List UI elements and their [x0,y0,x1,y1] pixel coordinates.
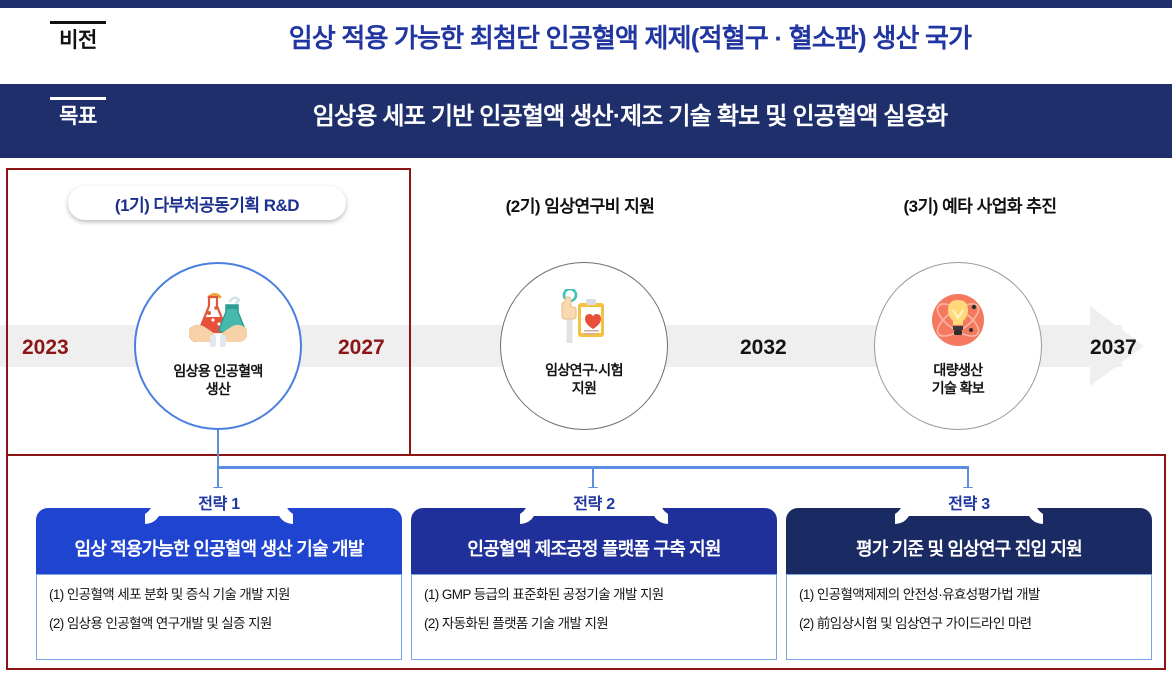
roadmap-infographic: 비전 임상 적용 가능한 최첨단 인공혈액 제제(적혈구 · 혈소판) 생산 국… [0,0,1172,679]
strategy-card-1[interactable]: 전략 1 임상 적용가능한 인공혈액 생산 기술 개발 (1) 인공혈액 세포 … [36,508,402,660]
year-label-2037: 2037 [1090,336,1137,360]
connector-stem [217,428,219,466]
strategy-tab-2[interactable]: 전략 2 [528,488,660,516]
goal-tag-rule [50,97,106,100]
strategy-card-2[interactable]: 전략 2 인공혈액 제조공정 플랫폼 구축 지원 (1) GMP 등급의 표준화… [411,508,777,660]
phase-label-3[interactable]: (3기) 예타 사업화 추진 [840,192,1120,217]
vision-tag: 비전 [50,21,106,51]
milestone-caption-2: 임상연구·시험 지원 [545,361,623,397]
year-label-2027: 2027 [338,336,385,360]
strategy-items-2: (1) GMP 등급의 표준화된 공정기술 개발 지원 (2) 자동화된 플랫폼… [411,574,777,660]
connector-drop-1 [217,466,219,488]
milestone-caption-3: 대량생산 기술 확보 [932,361,984,397]
strategy-item: (1) 인공혈액 세포 분화 및 증식 기술 개발 지원 [49,586,389,604]
strategy-tab-3[interactable]: 전략 3 [903,488,1035,516]
milestone-caption-2-line1: 임상연구·시험 [545,362,623,378]
milestone-caption-3-line1: 대량생산 [933,362,982,378]
phase-label-2[interactable]: (2기) 임상연구비 지원 [440,192,720,217]
milestone-caption-1-line1: 임상용 인공혈액 [173,363,262,379]
strategy-item: (2) 임상용 인공혈액 연구개발 및 실증 지원 [49,615,389,633]
strategy-card-3[interactable]: 전략 3 평가 기준 및 임상연구 진입 지원 (1) 인공혈액제제의 안전성·… [786,508,1152,660]
vision-title: 임상 적용 가능한 최첨단 인공혈액 제제(적혈구 · 혈소판) 생산 국가 [150,24,1110,53]
vision-tag-label: 비전 [59,30,97,51]
phase-label-1[interactable]: (1기) 다부처공동기획 R&D [68,186,346,220]
strategy-title-2: 인공혈액 제조공정 플랫폼 구축 지원 [411,508,777,574]
connector-drop-2 [592,466,594,488]
milestone-circle-2[interactable]: 임상연구·시험 지원 [500,262,668,430]
milestone-caption-1: 임상용 인공혈액 생산 [173,362,262,398]
year-label-2023: 2023 [22,336,69,360]
top-accent-bar [0,0,1172,8]
year-label-2032: 2032 [740,336,787,360]
strategy-title-3: 평가 기준 및 임상연구 진입 지원 [786,508,1152,574]
phase1-highlight-bridge [411,454,1166,456]
milestone-caption-2-line2: 지원 [572,380,597,396]
strategy-item: (1) 인공혈액제제의 안전성·유효성평가법 개발 [799,586,1139,604]
strategy-items-1: (1) 인공혈액 세포 분화 및 증식 기술 개발 지원 (2) 임상용 인공혈… [36,574,402,660]
strategy-item: (1) GMP 등급의 표준화된 공정기술 개발 지원 [424,586,764,604]
milestone-circle-3[interactable]: 대량생산 기술 확보 [874,262,1042,430]
goal-title: 임상용 세포 기반 인공혈액 생산·제조 기술 확보 및 인공혈액 실용화 [150,104,1110,130]
strategy-items-3: (1) 인공혈액제제의 안전성·유효성평가법 개발 (2) 前임상시험 및 임상… [786,574,1152,660]
goal-tag-label: 목표 [59,106,97,127]
strategy-item: (2) 자동화된 플랫폼 기술 개발 지원 [424,615,764,633]
clipboard-heart-hand-icon [553,283,615,357]
hands-holding-flasks-icon [185,284,251,358]
milestone-circle-1[interactable]: 임상용 인공혈액 생산 [134,262,302,430]
lightbulb-atom-icon [930,283,986,357]
strategy-title-1: 임상 적용가능한 인공혈액 생산 기술 개발 [36,508,402,574]
connector-drop-3 [967,466,969,488]
vision-tag-rule [50,21,106,24]
strategy-tab-1[interactable]: 전략 1 [153,488,285,516]
strategy-item: (2) 前임상시험 및 임상연구 가이드라인 마련 [799,615,1139,633]
milestone-caption-1-line2: 생산 [206,381,231,397]
goal-tag: 목표 [50,97,106,127]
milestone-caption-3-line2: 기술 확보 [932,380,984,396]
